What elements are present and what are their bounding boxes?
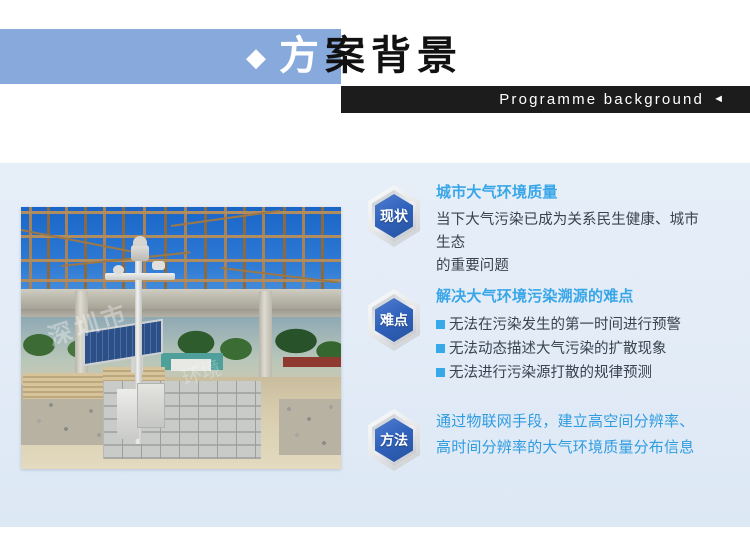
badge-method: 方法 (368, 409, 420, 471)
section-text-line: 的重要问题 (436, 255, 708, 278)
list-item-label: 无法进行污染源打散的规律预测 (449, 361, 652, 385)
section-text-line: 通过物联网手段，建立高空间分辨率、 (436, 409, 726, 435)
page-title-highlight: 方 (279, 36, 325, 76)
list-item-label: 无法动态描述大气污染的扩散现象 (449, 337, 667, 361)
section-title: 解决大气环境污染溯源的难点 (436, 289, 681, 304)
content-panel: 深圳市 环境 现状 城市大气环境质量 当下大气污染已成为关系民生健康、城市生态 … (0, 163, 750, 527)
section-body: 城市大气环境质量 当下大气污染已成为关系民生健康、城市生态 的重要问题 (436, 185, 708, 278)
page-title: ◆ 方 案背景 (0, 22, 750, 90)
section-text: 通过物联网手段，建立高空间分辨率、 高时间分辨率的大气环境质量分布信息 (436, 409, 726, 461)
badge-label: 方法 (380, 433, 408, 447)
square-bullet-icon (436, 320, 445, 329)
left-arrow-icon: ◄ (713, 94, 724, 105)
section-status: 现状 城市大气环境质量 当下大气污染已成为关系民生健康、城市生态 的重要问题 (368, 185, 708, 278)
list-item-label: 无法在污染发生的第一时间进行预警 (449, 313, 681, 337)
section-text-line: 高时间分辨率的大气环境质量分布信息 (436, 435, 726, 461)
square-bullet-icon (436, 368, 445, 377)
section-difficulty: 难点 解决大气环境污染溯源的难点 无法在污染发生的第一时间进行预警 无法动态描述… (368, 289, 681, 385)
badge-label: 现状 (380, 209, 408, 223)
square-bullet-icon (436, 344, 445, 353)
page-header: ◆ 方 案背景 Programme background ◄ (0, 0, 750, 163)
list-item: 无法进行污染源打散的规律预测 (436, 361, 681, 385)
section-body: 通过物联网手段，建立高空间分辨率、 高时间分辨率的大气环境质量分布信息 (436, 409, 726, 461)
page-subtitle: Programme background (499, 91, 704, 108)
section-text: 当下大气污染已成为关系民生健康、城市生态 的重要问题 (436, 209, 708, 278)
badge-difficulty: 难点 (368, 289, 420, 351)
sensor-icon (131, 245, 149, 261)
diamond-bullet-icon: ◆ (246, 44, 272, 70)
list-item: 无法动态描述大气污染的扩散现象 (436, 337, 681, 361)
section-text-line: 当下大气污染已成为关系民生健康、城市生态 (436, 209, 708, 255)
page-title-rest: 案背景 (325, 36, 463, 76)
page-subtitle-bar: Programme background ◄ (341, 86, 750, 113)
controller-box (137, 383, 165, 428)
photo-beam (21, 289, 341, 309)
site-photo: 深圳市 环境 (21, 207, 341, 469)
page-footer-spacer (0, 527, 750, 534)
section-body: 解决大气环境污染溯源的难点 无法在污染发生的第一时间进行预警 无法动态描述大气污… (436, 289, 681, 385)
bullet-list: 无法在污染发生的第一时间进行预警 无法动态描述大气污染的扩散现象 无法进行污染源… (436, 313, 681, 385)
section-title: 城市大气环境质量 (436, 185, 708, 200)
badge-status: 现状 (368, 185, 420, 247)
section-method: 方法 通过物联网手段，建立高空间分辨率、 高时间分辨率的大气环境质量分布信息 (368, 409, 726, 471)
list-item: 无法在污染发生的第一时间进行预警 (436, 313, 681, 337)
badge-label: 难点 (380, 313, 408, 327)
